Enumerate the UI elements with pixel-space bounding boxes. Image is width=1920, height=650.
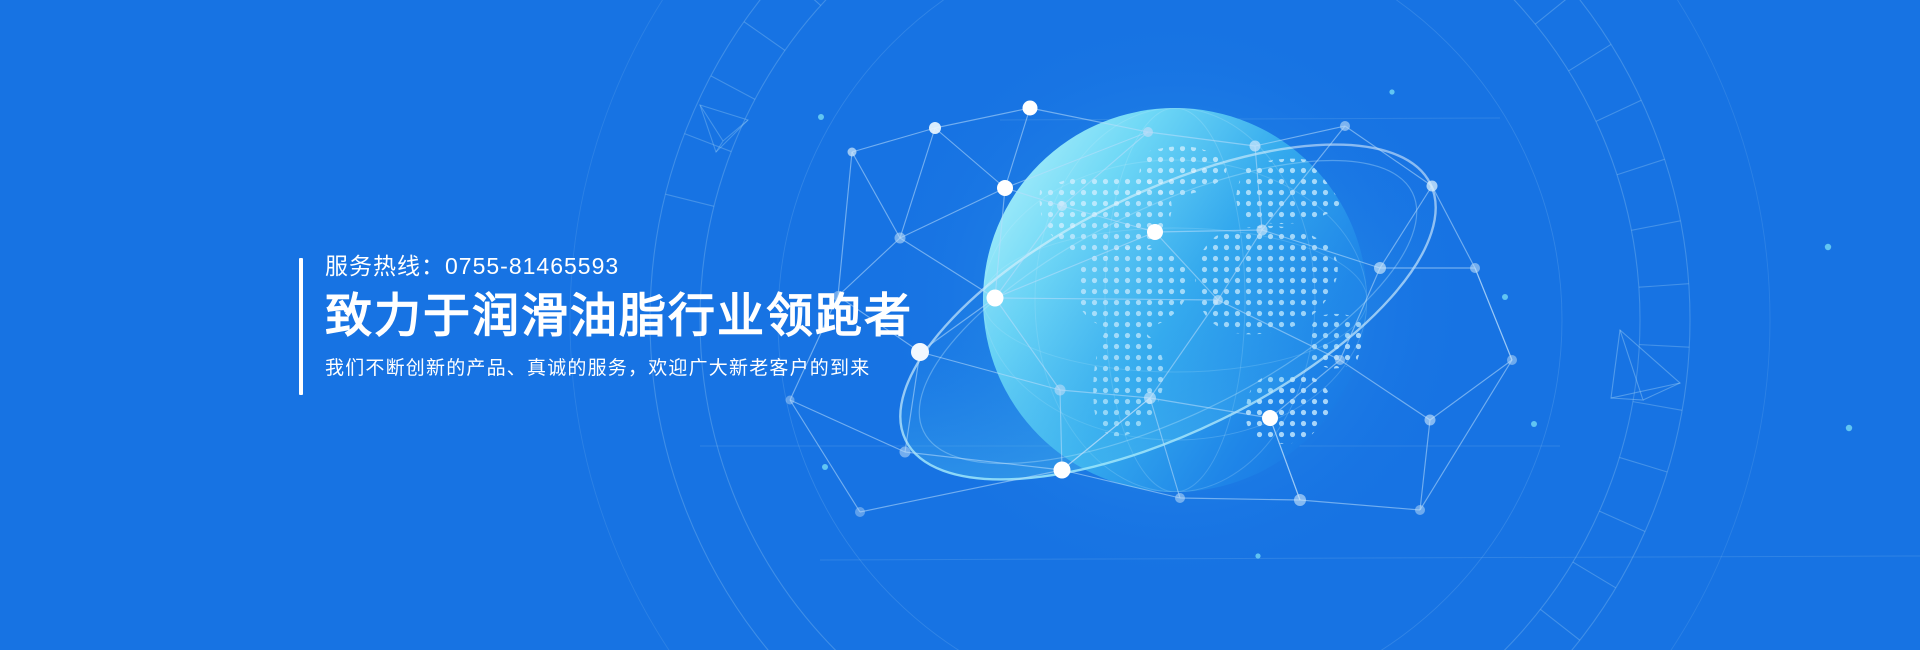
hero-banner: 服务热线：0755-81465593 致力于润滑油脂行业领跑者 我们不断创新的产…	[0, 0, 1920, 650]
banner-headline: 致力于润滑油脂行业领跑者	[325, 284, 913, 348]
network-globe-illustration	[0, 0, 1920, 650]
service-hotline: 服务热线：0755-81465593	[325, 250, 913, 282]
banner-subtitle: 我们不断创新的产品、真诚的服务，欢迎广大新老客户的到来	[325, 354, 913, 384]
accent-bar	[299, 258, 303, 395]
banner-text-block: 服务热线：0755-81465593 致力于润滑油脂行业领跑者 我们不断创新的产…	[299, 250, 913, 384]
